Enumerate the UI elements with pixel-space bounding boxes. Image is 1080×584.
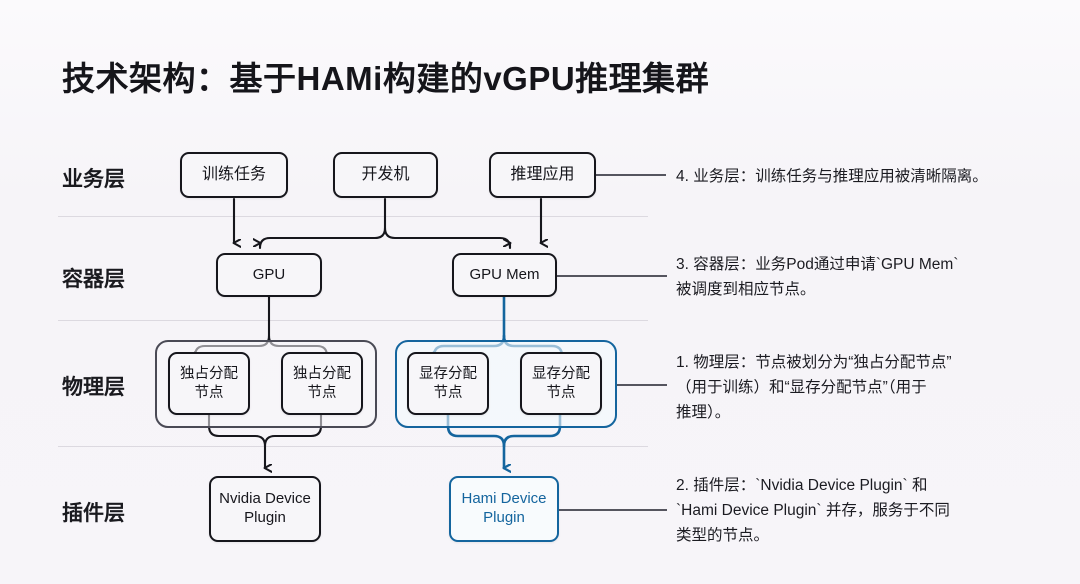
node-vmem-2-label: 显存分配 节点: [532, 365, 590, 401]
leader-line-container: [557, 275, 667, 277]
divider-physical-plugin: [58, 446, 648, 447]
node-training-job[interactable]: 训练任务: [180, 152, 288, 198]
layer-label-business: 业务层: [62, 163, 125, 193]
leader-line-business: [596, 174, 666, 176]
node-training-job-label: 训练任务: [202, 165, 266, 185]
node-dev-machine-label: 开发机: [361, 165, 409, 185]
annotation-plugin-layer: 2. 插件层：`Nvidia Device Plugin` 和 `Hami De…: [676, 473, 1074, 548]
leader-line-physical: [617, 384, 667, 386]
node-gpu-label: GPU: [253, 266, 286, 285]
layer-label-plugin: 插件层: [62, 497, 125, 527]
node-gpu-mem-label: GPU Mem: [469, 266, 539, 285]
layer-label-physical: 物理层: [62, 371, 125, 401]
node-dev-machine[interactable]: 开发机: [333, 152, 438, 198]
node-nvidia-device-plugin[interactable]: Nvidia Device Plugin: [209, 476, 321, 542]
node-inference-app-label: 推理应用: [510, 165, 574, 185]
node-hami-device-plugin-label: Hami Device Plugin: [461, 490, 546, 528]
node-gpu-mem[interactable]: GPU Mem: [452, 253, 557, 297]
annotation-container-layer: 3. 容器层：业务Pod通过申请`GPU Mem` 被调度到相应节点。: [676, 252, 1068, 302]
node-nvidia-device-plugin-label: Nvidia Device Plugin: [219, 490, 311, 528]
annotation-physical-layer: 1. 物理层：节点被划分为“独占分配节点” （用于训练）和“显存分配节点”（用于…: [676, 350, 1074, 425]
node-vmem-1-label: 显存分配 节点: [419, 365, 477, 401]
page-title: 技术架构：基于HAMi构建的vGPU推理集群: [62, 52, 709, 100]
node-exclusive-1[interactable]: 独占分配 节点: [168, 352, 250, 415]
diagram-canvas: 技术架构：基于HAMi构建的vGPU推理集群 业务层 容器层 物理层 插件层: [0, 0, 1080, 584]
layer-label-container: 容器层: [62, 263, 125, 293]
node-exclusive-2-label: 独占分配 节点: [293, 365, 351, 401]
node-gpu[interactable]: GPU: [216, 253, 322, 297]
node-vmem-2[interactable]: 显存分配 节点: [520, 352, 602, 415]
node-exclusive-1-label: 独占分配 节点: [180, 365, 238, 401]
annotation-business-layer: 4. 业务层：训练任务与推理应用被清晰隔离。: [676, 164, 1068, 189]
node-inference-app[interactable]: 推理应用: [489, 152, 596, 198]
node-exclusive-2[interactable]: 独占分配 节点: [281, 352, 363, 415]
leader-line-plugin: [559, 509, 667, 511]
node-vmem-1[interactable]: 显存分配 节点: [407, 352, 489, 415]
node-hami-device-plugin[interactable]: Hami Device Plugin: [449, 476, 559, 542]
divider-container-physical: [58, 320, 648, 321]
divider-business-container: [58, 216, 648, 217]
